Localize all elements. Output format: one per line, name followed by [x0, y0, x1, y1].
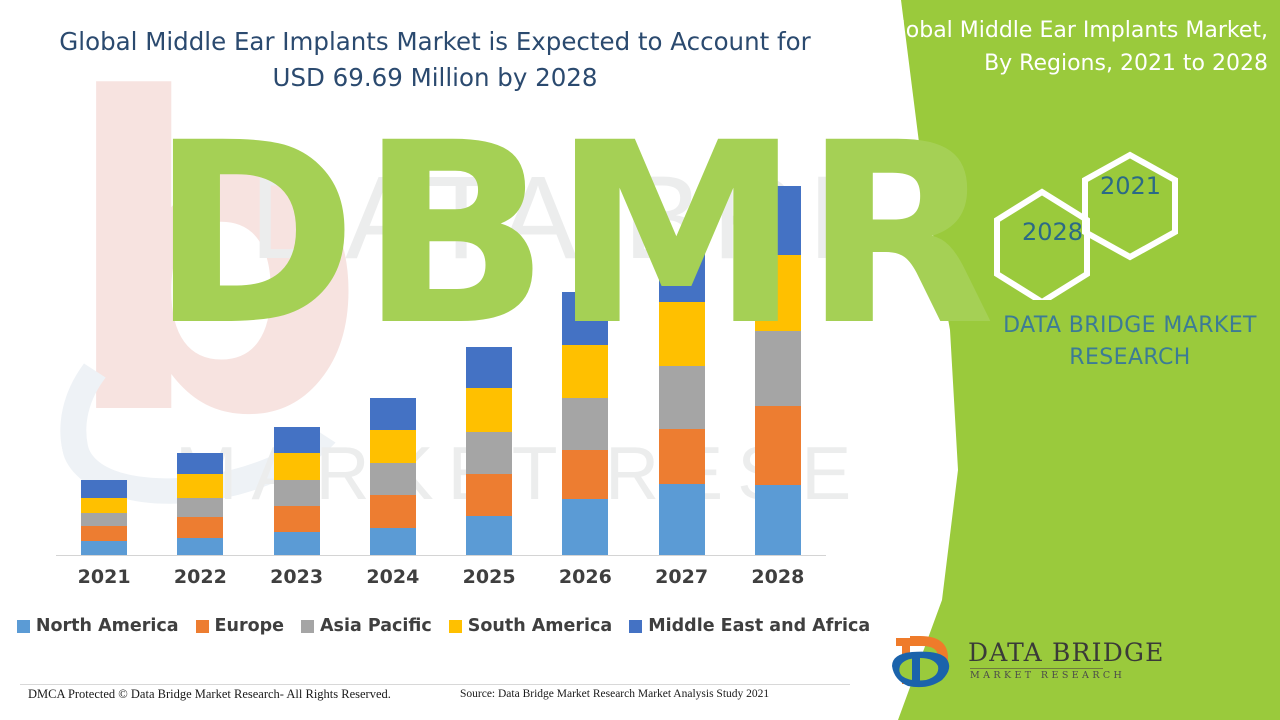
bar-segment — [177, 538, 223, 555]
logo-mark-icon — [890, 632, 966, 690]
data-bridge-logo: DATA BRIDGE MARKET RESEARCH — [890, 632, 1120, 694]
legend-label: Europe — [215, 616, 284, 636]
stacked-bar-chart — [56, 150, 826, 555]
bar-segment — [466, 474, 512, 516]
stacked-bar — [562, 292, 608, 555]
x-axis-label: 2024 — [345, 566, 441, 588]
hexagon-2021-label: 2021 — [1100, 172, 1160, 200]
bar-segment — [177, 517, 223, 538]
legend-label: South America — [468, 616, 612, 636]
x-axis-label: 2025 — [441, 566, 537, 588]
footer-copyright: DMCA Protected © Data Bridge Market Rese… — [28, 687, 391, 702]
x-axis-label: 2023 — [249, 566, 345, 588]
bar-segment — [562, 345, 608, 398]
legend-swatch-icon — [196, 620, 209, 633]
legend-swatch-icon — [17, 620, 30, 633]
legend-swatch-icon — [629, 620, 642, 633]
bar-segment — [755, 255, 801, 331]
bar-column — [345, 150, 441, 555]
hexagon-group — [985, 140, 1185, 300]
bar-segment — [274, 453, 320, 480]
stacked-bar — [81, 480, 127, 555]
bar-column — [634, 150, 730, 555]
bar-segment — [81, 526, 127, 541]
bar-segment — [177, 474, 223, 498]
bar-segment — [755, 406, 801, 485]
bar-column — [441, 150, 537, 555]
logo-subtitle: MARKET RESEARCH — [970, 670, 1125, 681]
bar-segment — [81, 541, 127, 555]
stacked-bar — [755, 186, 801, 555]
legend-label: Asia Pacific — [320, 616, 432, 636]
x-axis-line — [56, 555, 826, 556]
panel-brand-text: DATA BRIDGE MARKET RESEARCH — [985, 310, 1275, 374]
stacked-bar — [274, 427, 320, 555]
x-axis-label: 2026 — [537, 566, 633, 588]
bar-column — [730, 150, 826, 555]
hexagon-2028-label: 2028 — [1022, 218, 1082, 246]
hexagon-2021-shape — [1085, 155, 1175, 257]
bar-segment — [755, 186, 801, 255]
footer-source: Source: Data Bridge Market Research Mark… — [460, 688, 769, 700]
legend-item[interactable]: Middle East and Africa — [629, 616, 870, 636]
bar-segment — [659, 238, 705, 302]
legend-swatch-icon — [449, 620, 462, 633]
legend-item[interactable]: North America — [17, 616, 179, 636]
bar-segment — [274, 427, 320, 453]
bar-segment — [755, 331, 801, 406]
logo-title: DATA BRIDGE — [968, 638, 1165, 667]
stacked-bar — [370, 398, 416, 555]
bar-column — [537, 150, 633, 555]
bar-segment — [81, 513, 127, 526]
bar-segment — [562, 499, 608, 555]
x-axis-label: 2027 — [634, 566, 730, 588]
stacked-bar — [466, 347, 512, 555]
legend-item[interactable]: South America — [449, 616, 612, 636]
bar-segment — [81, 480, 127, 498]
page-title: Global Middle Ear Implants Market is Exp… — [40, 24, 830, 96]
legend-item[interactable]: Europe — [196, 616, 284, 636]
bar-segment — [659, 484, 705, 555]
bar-segment — [370, 463, 416, 495]
stacked-bar — [177, 453, 223, 555]
bar-segment — [466, 388, 512, 432]
bar-segment — [659, 429, 705, 484]
bar-segment — [562, 398, 608, 450]
bar-segment — [177, 453, 223, 474]
bar-segment — [370, 528, 416, 555]
x-axis-label: 2022 — [152, 566, 248, 588]
stacked-bar — [659, 238, 705, 555]
bar-segment — [274, 506, 320, 532]
hexagon-2028-shape — [997, 192, 1087, 300]
bar-segment — [466, 347, 512, 388]
bar-column — [152, 150, 248, 555]
x-axis-label: 2021 — [56, 566, 152, 588]
bar-segment — [81, 498, 127, 513]
chart-legend: North AmericaEuropeAsia PacificSouth Ame… — [56, 616, 831, 636]
infographic-canvas: b DATA BRIDGE MARKET RESEARCH Global Mid… — [0, 0, 1280, 720]
logo-divider — [970, 668, 1103, 669]
x-axis-label: 2028 — [730, 566, 826, 588]
bar-column — [249, 150, 345, 555]
bar-segment — [370, 398, 416, 430]
bar-segment — [370, 430, 416, 463]
bar-segment — [274, 532, 320, 555]
legend-item[interactable]: Asia Pacific — [301, 616, 432, 636]
bar-segment — [659, 302, 705, 366]
bar-column — [56, 150, 152, 555]
bar-segment — [562, 292, 608, 345]
bar-segment — [562, 450, 608, 499]
legend-label: North America — [36, 616, 179, 636]
bar-segment — [755, 485, 801, 555]
bar-segment — [274, 480, 320, 506]
bar-segment — [370, 495, 416, 528]
bar-segment — [466, 516, 512, 555]
legend-label: Middle East and Africa — [648, 616, 870, 636]
legend-swatch-icon — [301, 620, 314, 633]
footer-divider — [20, 684, 850, 685]
panel-title: Global Middle Ear Implants Market, By Re… — [868, 14, 1268, 80]
x-axis-labels: 20212022202320242025202620272028 — [56, 566, 826, 588]
bar-segment — [659, 366, 705, 429]
bar-segment — [466, 432, 512, 474]
bar-segment — [177, 498, 223, 517]
